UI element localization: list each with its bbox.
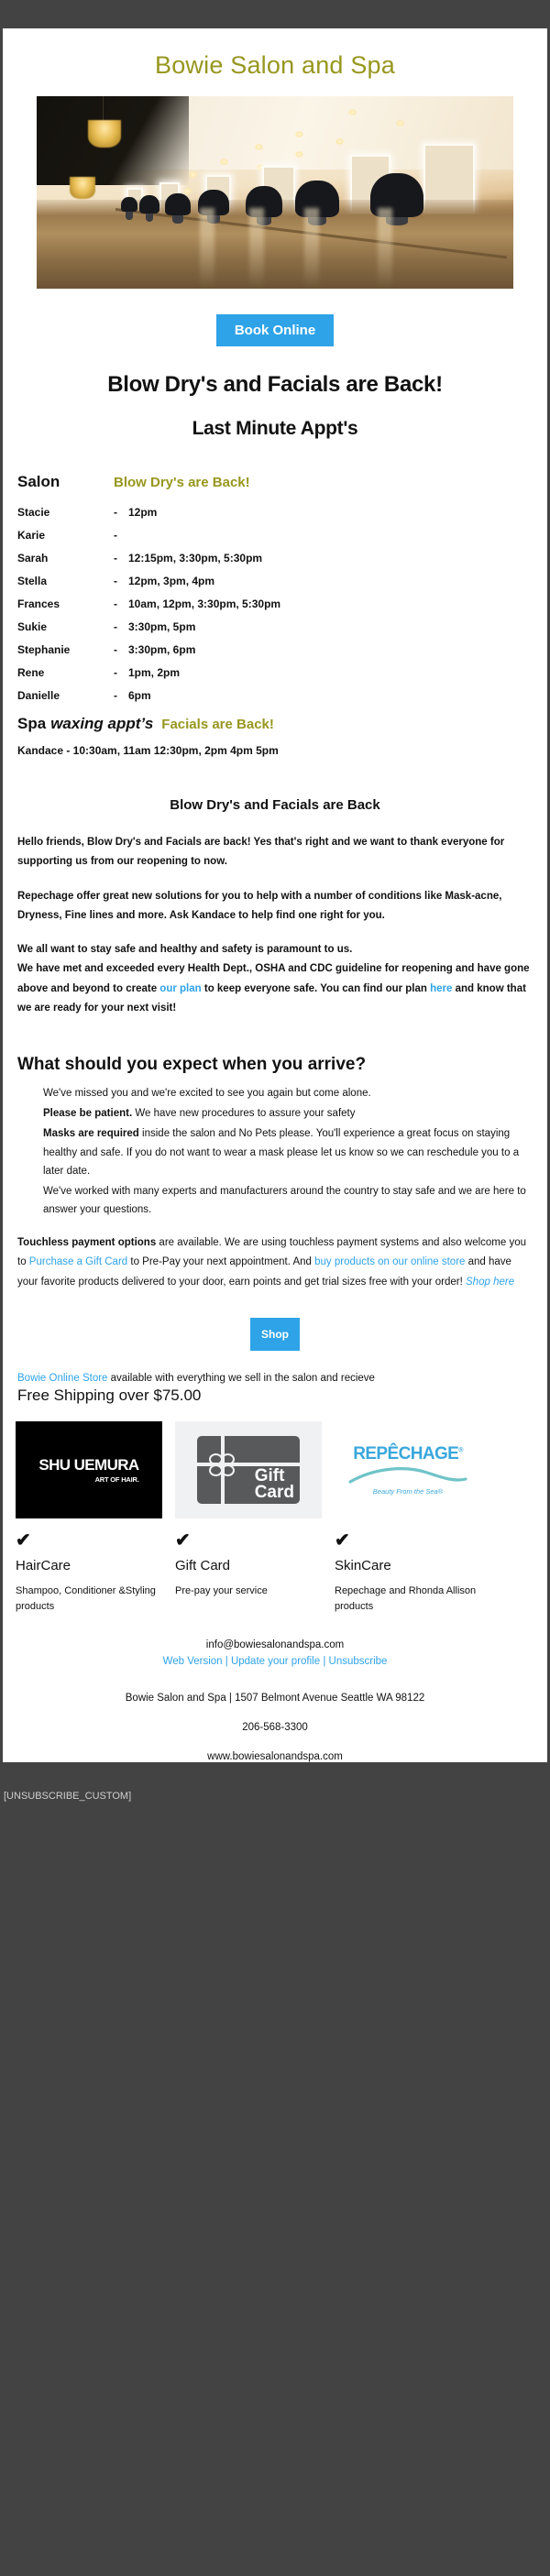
footer-links: Web Version | Update your profile | Unsu… [12,1656,538,1667]
row-dash: - [114,620,128,633]
spa-promo-label: Facials are Back! [161,717,274,732]
email-footer: info@bowiesalonandspa.com Web Version | … [3,1616,547,1762]
shu-uemura-logo: SHU UEMURA ART OF HAIR. [38,1456,138,1484]
row-dash: - [114,575,128,587]
appointments-schedule: Salon Blow Dry's are Back! Stacie - 12pm… [3,467,547,766]
table-row: Frances - 10am, 12pm, 3:30pm, 5:30pm [17,597,533,610]
stylist-name: Stacie [17,506,114,519]
check-icon: ✔ [16,1531,162,1550]
esthetician-row: Kandace - 10:30am, 11am 12:30pm, 2pm 4pm… [17,744,533,757]
business-address: Bowie Salon and Spa | 1507 Belmont Avenu… [12,1693,538,1704]
spa-label: Spa [17,715,46,733]
row-dash: - [114,529,128,542]
online-store-link[interactable]: buy products on our online store [314,1256,465,1267]
floor-reflection [200,208,214,289]
feature-title: Gift Card [175,1558,322,1573]
repechage-logo: REPÊCHAGE® Beauty From the Sea® [348,1444,467,1496]
shu-uemura-tagline: ART OF HAIR. [38,1475,138,1484]
stylist-times: 1pm, 2pm [128,666,180,679]
schedule-header-spa: Spa waxing appt’s Facials are Back! [17,715,533,733]
ceiling-light-icon [396,120,404,126]
email-body: Bowie Salon and Spa [0,28,550,1762]
table-row: Stella - 12pm, 3pm, 4pm [17,575,533,587]
masks-required-bold: Masks are required [43,1128,139,1139]
feature-skincare: ✔ SkinCare Repechage and Rhonda Allison … [335,1531,481,1616]
floor-reflection [304,208,319,289]
table-row: Danielle - 6pm [17,689,533,702]
chandelier-icon [88,120,121,148]
store-note-text: available with everything we sell in the… [107,1373,375,1384]
gift-card-image: Gift Card [175,1421,322,1518]
stylist-times: 3:30pm, 6pm [128,643,195,656]
touchless-paragraph: Touchless payment options are available.… [17,1233,533,1292]
feature-desc: Repechage and Rhonda Allison products [335,1584,481,1616]
stylist-name: Danielle [17,689,114,702]
expect-line-2: Please be patient. We have new procedure… [43,1104,531,1123]
stylist-name: Karie [17,529,114,542]
chandelier-cord [103,96,104,122]
stylist-times: 12pm, 3pm, 4pm [128,575,214,587]
top-frame-bar [0,0,550,28]
ceiling-light-icon [255,144,263,150]
article-section: Blow Dry's and Facials are Back Hello fr… [3,766,547,1018]
stylist-times: 6pm [128,689,151,702]
touchless-bold: Touchless payment options [17,1237,156,1248]
touchless-text-2: to Pre-Pay your next appointment. And [127,1256,314,1267]
stylist-name: Stephanie [17,643,114,656]
check-icon: ✔ [335,1531,481,1550]
schedule-header-salon: Salon Blow Dry's are Back! [17,473,533,491]
row-dash: - [114,643,128,656]
table-row: Stacie - 12pm [17,506,533,519]
table-row: Stephanie - 3:30pm, 6pm [17,643,533,656]
card-giftcard[interactable]: Gift Card [175,1421,322,1518]
stylist-times: 12:15pm, 3:30pm, 5:30pm [128,552,262,565]
stylist-times: 10am, 12pm, 3:30pm, 5:30pm [128,597,280,610]
book-online-button[interactable]: Book Online [216,314,334,346]
feature-desc: Shampoo, Conditioner &Styling products [16,1584,162,1616]
expect-heading: What should you expect when you arrive? [3,1055,547,1075]
shop-button[interactable]: Shop [250,1318,300,1351]
spa-waxing-label: waxing appt’s [50,715,153,733]
stylist-name: Sukie [17,620,114,633]
row-dash: - [114,552,128,565]
expect-line-3: Masks are required inside the salon and … [43,1124,531,1179]
repechage-brand-name: REPÊCHAGE® [348,1444,467,1464]
update-profile-link[interactable]: Update your profile [231,1656,320,1667]
free-shipping-text: Free Shipping over $75.00 [17,1387,533,1405]
registered-mark-icon: ® [458,1447,463,1453]
our-plan-link[interactable]: our plan [159,983,201,994]
email-page: Bowie Salon and Spa [0,0,550,2576]
gift-card-icon: Gift Card [197,1436,300,1504]
bowie-online-store-link[interactable]: Bowie Online Store [17,1373,107,1384]
expect-line-4: We've worked with many experts and manuf… [43,1182,531,1219]
unsubscribe-link[interactable]: Unsubscribe [329,1656,388,1667]
ceiling-light-icon [295,151,303,158]
feature-title: SkinCare [335,1558,481,1573]
ceiling-light-icon [189,171,197,178]
ceiling-light-icon [220,159,228,165]
safety-line-3: to keep everyone safe. You can find our … [202,983,430,994]
footer-separator: | [223,1656,231,1667]
please-be-patient-bold: Please be patient. [43,1108,132,1119]
chandelier-icon [70,177,95,199]
shop-button-wrap: Shop [3,1292,547,1356]
touchless-payment-section: Touchless payment options are available.… [3,1233,547,1292]
safety-line-1: We all want to stay safe and healthy and… [17,944,352,955]
salon-label: Salon [17,473,114,491]
table-row: Sarah - 12:15pm, 3:30pm, 5:30pm [17,552,533,565]
article-heading: Blow Dry's and Facials are Back [17,797,533,813]
stylist-name: Rene [17,666,114,679]
product-cards: SHU UEMURA ART OF HAIR. Gift Card [3,1405,547,1518]
salon-chair [165,193,191,215]
gift-card-text: Gift Card [255,1468,294,1502]
feature-haircare: ✔ HairCare Shampoo, Conditioner &Styling… [16,1531,162,1616]
expect-line-1: We've missed you and we're excited to se… [43,1084,531,1102]
stylist-times: 3:30pm, 5pm [128,620,195,633]
feature-title: HairCare [16,1558,162,1573]
card-haircare[interactable]: SHU UEMURA ART OF HAIR. [16,1421,162,1518]
salon-chair [139,195,159,214]
here-link[interactable]: here [430,983,452,994]
row-dash: - [114,689,128,702]
gift-word-2: Card [255,1485,294,1502]
gift-bow-icon [209,1453,236,1477]
store-note-section: Bowie Online Store available with everyt… [3,1373,547,1405]
ceiling-light-icon [335,138,344,145]
stylist-name: Stella [17,575,114,587]
wave-icon [348,1466,467,1486]
floor-reflection [249,208,264,289]
article-paragraph-3: We all want to stay safe and healthy and… [17,940,533,1018]
business-website: www.bowiesalonandspa.com [12,1751,538,1762]
row-dash: - [114,666,128,679]
feature-desc: Pre-pay your service [175,1584,322,1600]
repechage-tagline: Beauty From the Sea® [348,1487,467,1496]
floor-reflection [378,208,392,289]
expect-list: We've missed you and we're excited to se… [3,1084,547,1219]
ceiling-light-icon [348,109,357,115]
ceiling-light-icon [295,131,303,137]
shu-uemura-brand-line: SHU UEMURA [38,1456,138,1474]
stylist-times: 12pm [128,506,157,519]
store-note-line: Bowie Online Store available with everyt… [17,1373,533,1384]
ceiling-light-icon [183,188,192,194]
footer-separator: | [320,1656,328,1667]
row-dash: - [114,597,128,610]
contact-email: info@bowiesalonandspa.com [12,1639,538,1650]
unsubscribe-custom-token: [UNSUBSCRIBE_CUSTOM] [0,1782,550,1838]
article-paragraph-2: Repechage offer great new solutions for … [17,887,533,926]
book-online-wrap: Book Online [3,289,547,352]
article-paragraph-1: Hello friends, Blow Dry's and Facials ar… [17,833,533,872]
salon-interior-image [37,96,513,289]
shu-uemura-logo-image: SHU UEMURA ART OF HAIR. [16,1421,162,1518]
table-row: Karie - [17,529,533,542]
stylist-name: Frances [17,597,114,610]
salon-promo-label: Blow Dry's are Back! [114,475,250,490]
shop-here-link[interactable]: Shop here [466,1277,514,1288]
page-title: Bowie Salon and Spa [3,28,547,96]
repechage-logo-image: REPÊCHAGE® Beauty From the Sea® [335,1421,481,1518]
web-version-link[interactable]: Web Version [163,1656,223,1667]
feature-giftcard: ✔ Gift Card Pre-pay your service [175,1531,322,1616]
row-dash: - [114,506,128,519]
business-phone: 206-568-3300 [12,1722,538,1733]
card-skincare[interactable]: REPÊCHAGE® Beauty From the Sea® [335,1421,481,1518]
table-row: Sukie - 3:30pm, 5pm [17,620,533,633]
check-icon: ✔ [175,1531,322,1550]
stylist-name: Sarah [17,552,114,565]
repechage-wordmark: REPÊCHAGE [353,1444,458,1463]
table-row: Rene - 1pm, 2pm [17,666,533,679]
headline-secondary: Last Minute Appt's [3,418,547,440]
headline-primary: Blow Dry's and Facials are Back! [3,372,547,398]
expect-line-2-text: We have new procedures to assure your sa… [132,1108,355,1119]
salon-chair [121,197,137,212]
purchase-gift-card-link[interactable]: Purchase a Gift Card [29,1256,127,1267]
product-features: ✔ HairCare Shampoo, Conditioner &Styling… [3,1518,547,1616]
